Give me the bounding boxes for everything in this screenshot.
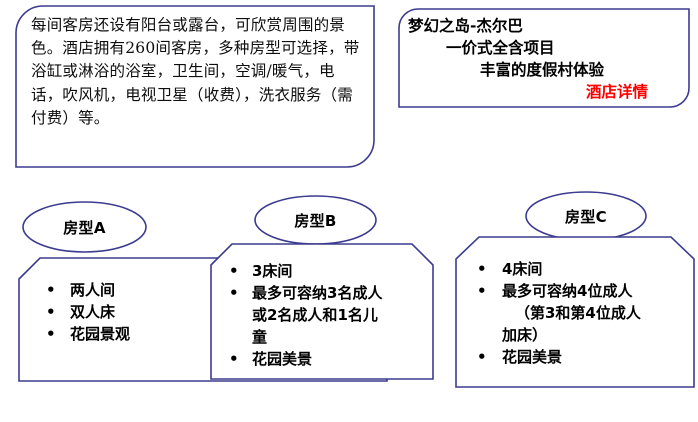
- bullet-text: 3床间: [252, 262, 292, 280]
- bullet-text: 最多可容纳3名成人: [252, 284, 382, 302]
- bullet-continuation: （第3和第4位成人: [467, 302, 687, 324]
- room-type-c-bullet-list: 4床间 最多可容纳4位成人 （第3和第4位成人 加床） 花园美景: [455, 236, 695, 368]
- resort-title-box: 梦幻之岛-杰尔巴 一价式全含项目 丰富的度假村体验 酒店详情: [398, 8, 690, 108]
- bullet-text: 花园美景: [502, 348, 562, 366]
- slide-canvas: 每间客房还设有阳台或露台，可欣赏周围的景色。酒店拥有260间客房，多种房型可选择…: [0, 0, 698, 422]
- title-line-destination: 梦幻之岛-杰尔巴: [408, 15, 682, 37]
- list-item: 最多可容纳3名成人: [219, 282, 426, 304]
- bullet-text: 4床间: [502, 260, 542, 278]
- bullet-continuation: 加床）: [467, 324, 687, 346]
- list-item: 4床间: [467, 258, 687, 280]
- list-item: 3床间: [219, 260, 426, 282]
- hotel-description-box: 每间客房还设有阳台或露台，可欣赏周围的景色。酒店拥有260间客房，多种房型可选择…: [15, 5, 375, 168]
- bullet-continuation: 或2名成人和1名儿: [219, 304, 426, 326]
- room-type-a-label: 房型A: [22, 201, 147, 253]
- list-item: 最多可容纳4位成人: [467, 280, 687, 302]
- bullet-text: 最多可容纳4位成人: [502, 282, 632, 300]
- bullet-text: 花园景观: [70, 325, 130, 343]
- description-text: 每间客房还设有阳台或露台，可欣赏周围的景色。酒店拥有260间客房，多种房型可选择…: [15, 5, 375, 130]
- room-type-b-details-box: 3床间 最多可容纳3名成人 或2名成人和1名儿 童 花园美景: [210, 243, 434, 380]
- title-line-hotel-details-link[interactable]: 酒店详情: [408, 81, 682, 103]
- title-line-experience: 丰富的度假村体验: [408, 59, 682, 81]
- room-type-c-label: 房型C: [525, 191, 647, 241]
- room-type-b-bullet-list: 3床间 最多可容纳3名成人 或2名成人和1名儿 童 花园美景: [210, 243, 434, 370]
- room-type-c-oval: 房型C: [525, 191, 647, 241]
- room-type-b-label: 房型B: [254, 195, 377, 245]
- bullet-text: 花园美景: [252, 350, 312, 368]
- bullet-text: 双人床: [70, 303, 115, 321]
- resort-title-lines: 梦幻之岛-杰尔巴 一价式全含项目 丰富的度假村体验 酒店详情: [398, 8, 690, 103]
- bullet-continuation: 童: [219, 326, 426, 348]
- title-line-package: 一价式全含项目: [408, 37, 682, 59]
- room-type-c-details-box: 4床间 最多可容纳4位成人 （第3和第4位成人 加床） 花园美景: [455, 236, 695, 388]
- room-type-b-oval: 房型B: [254, 195, 377, 245]
- room-type-a-oval: 房型A: [22, 201, 147, 253]
- list-item: 花园美景: [219, 348, 426, 370]
- list-item: 花园美景: [467, 346, 687, 368]
- bullet-text: 两人间: [70, 281, 115, 299]
